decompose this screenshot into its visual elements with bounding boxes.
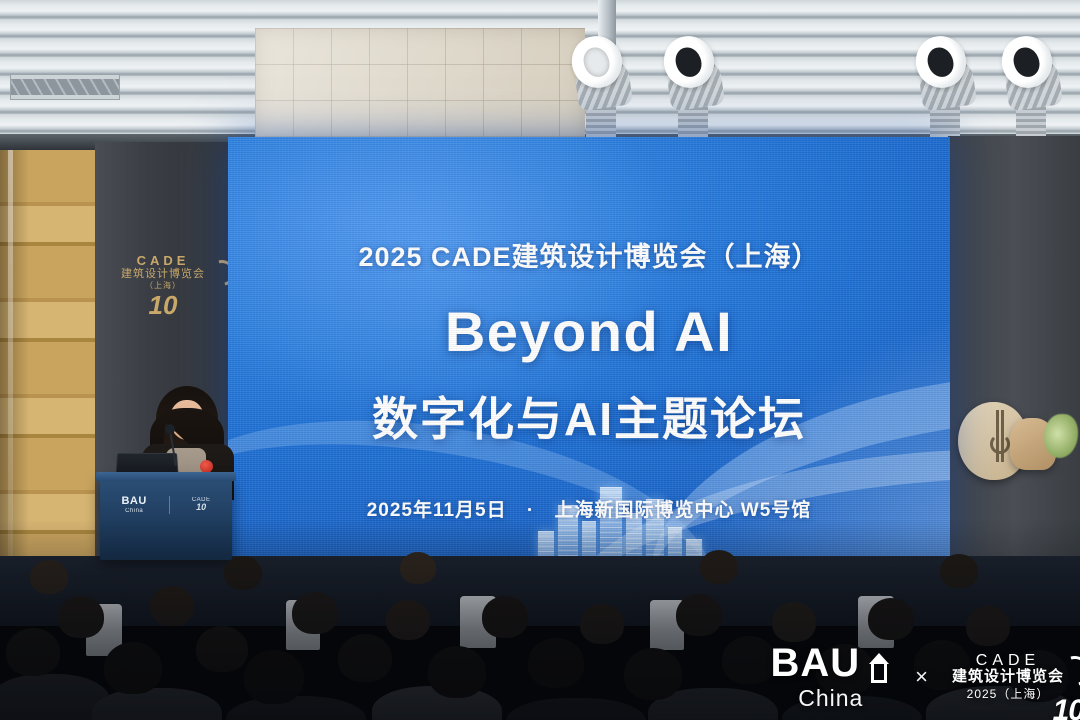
bau-logo-subtitle: China xyxy=(770,687,891,710)
cade-wall-logo-word: CADE xyxy=(113,254,213,267)
sculpture-hook-icon xyxy=(990,434,1010,454)
cade-corner-cn: 建筑设计博览会 xyxy=(952,669,1064,686)
screen-event-title: 2025 CADE建筑设计博览会（上海） xyxy=(228,235,950,274)
house-body-icon xyxy=(871,664,887,683)
ceiling-truss-left xyxy=(10,74,120,100)
cade-wall-logo: CADE 建筑设计博览会 （上海） 10 xyxy=(113,254,213,318)
tiled-panel xyxy=(255,28,585,140)
conference-stage-scene: CADE 建筑设计博览会 （上海） 10 2025 CADE建筑设计博览会（上海… xyxy=(0,0,1080,720)
podium-top-edge xyxy=(96,472,236,481)
screen-forum-title: 数字化与AI主题论坛 xyxy=(228,383,950,449)
cade-corner-ten: 10 xyxy=(1053,694,1080,720)
ventilation-duct-3 xyxy=(916,22,976,142)
cade-corner-logo: CADE 建筑设计博览会 2025（上海） 10 xyxy=(952,652,1064,701)
cade-wall-logo-ten: 10 xyxy=(113,292,213,318)
screen-headline: Beyond AI xyxy=(228,299,950,364)
bau-logo-main-row: BAU xyxy=(770,643,891,683)
bau-logo-text: BAU xyxy=(770,643,860,683)
bau-china-logo: BAU China xyxy=(770,643,891,710)
cade-corner-year: 2025（上海） xyxy=(952,688,1064,701)
ventilation-duct-1 xyxy=(572,22,632,142)
logo-x-separator: × xyxy=(915,664,928,690)
cade-wall-logo-cn: 建筑设计博览会 xyxy=(113,269,213,280)
sculpture-plant-icon xyxy=(1044,414,1078,458)
ventilation-duct-4 xyxy=(1002,22,1062,142)
ventilation-duct-2 xyxy=(664,22,724,142)
cade-wall-logo-city: （上海） xyxy=(113,282,213,290)
house-icon xyxy=(867,653,891,683)
corner-logo-overlay: BAU China × CADE 建筑设计博览会 2025（上海） 10 xyxy=(770,643,1064,710)
house-roof-icon xyxy=(869,653,889,664)
cade-corner-word: CADE xyxy=(952,652,1064,670)
